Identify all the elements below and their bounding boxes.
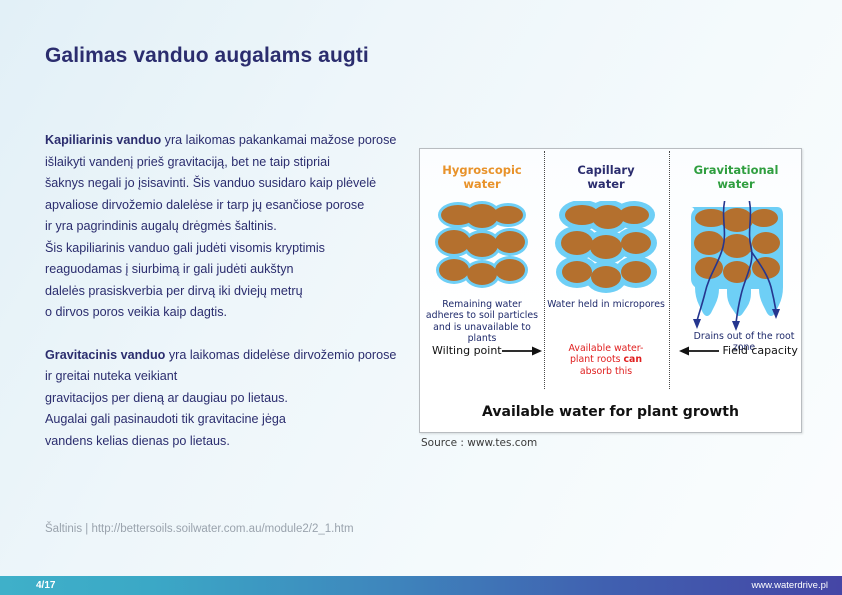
available-water-note-line2a: plant roots: [570, 354, 624, 365]
paragraph-capillary: Kapiliarinis vanduo yra laikomas pakanka…: [45, 130, 445, 324]
field-capacity-marker: Field capacity: [679, 344, 798, 357]
panel-hygroscopic-title-line1: Hygroscopic: [442, 163, 521, 177]
arrow-left-icon: [679, 346, 719, 356]
paragraph-capillary-line-7: dalelės prasiskverbia per dirvą iki dvie…: [45, 281, 445, 303]
gravitational-soil-aggregate-icon: [669, 201, 802, 336]
panel-hygroscopic: Hygroscopic water: [420, 149, 544, 397]
paragraph-capillary-line-3: apvaliose dirvožemio dalelėse ir tarp jų…: [45, 195, 445, 217]
panel-gravitational-title-line2: water: [717, 177, 754, 191]
panel-gravitational-title: Gravitational water: [669, 163, 802, 191]
paragraph-capillary-lead: Kapiliarinis vanduo: [45, 133, 161, 147]
panel-capillary-title: Capillary water: [544, 163, 668, 191]
footer-website-url[interactable]: www.waterdrive.pl: [751, 580, 828, 591]
panel-gravitational: Gravitational water: [669, 149, 802, 397]
footer-bar: 4/17 www.waterdrive.pl: [0, 576, 842, 595]
panel-hygroscopic-title-line2: water: [463, 177, 500, 191]
wilting-point-marker: Wilting point: [432, 344, 542, 357]
available-water-note-line3: absorb this: [580, 366, 632, 377]
available-water-note: Available water- plant roots can absorb …: [548, 343, 664, 377]
figure-caption: Available water for plant growth: [420, 404, 801, 420]
paragraph-gravitational-line-3: Augalai gali pasinaudoti tik gravitacine…: [45, 409, 445, 431]
paragraph-capillary-line-4: ir yra pagrindinis augalų drėgmės šaltin…: [45, 216, 445, 238]
paragraph-capillary-line-0: yra laikomas pakankamai mažose porose: [161, 133, 396, 147]
panel-capillary-description: Water held in micropores: [546, 299, 666, 310]
panel-capillary-title-line2: water: [587, 177, 624, 191]
panel-hygroscopic-title: Hygroscopic water: [420, 163, 544, 191]
page-indicator: 4/17: [36, 580, 55, 591]
capillary-soil-aggregate-icon: [544, 201, 668, 297]
soil-water-diagram: Hygroscopic water: [419, 148, 802, 433]
paragraph-gravitational: Gravitacinis vanduo yra laikomas didelės…: [45, 345, 445, 453]
paragraph-gravitational-line-1: ir greitai nuteka veikiant: [45, 366, 445, 388]
panel-capillary-title-line1: Capillary: [577, 163, 634, 177]
figure-source-text: Source : www.tes.com: [421, 437, 537, 449]
wilting-point-label: Wilting point: [432, 344, 502, 357]
paragraph-capillary-line-5: Šis kapiliarinis vanduo gali judėti viso…: [45, 238, 445, 260]
panel-capillary: Capillary water: [544, 149, 668, 397]
slide: Galimas vanduo augalams augti Kapiliarin…: [0, 0, 842, 595]
page-title: Galimas vanduo augalams augti: [45, 44, 369, 68]
paragraph-gravitational-line-4: vandens kelias dienas po lietaus.: [45, 431, 445, 453]
arrow-right-icon: [502, 346, 542, 356]
paragraph-gravitational-line-0: yra laikomas didelėse dirvožemio porose: [165, 348, 396, 362]
body-text-column: Kapiliarinis vanduo yra laikomas pakanka…: [45, 130, 445, 452]
diagram-canvas: Hygroscopic water: [420, 149, 801, 432]
paragraph-capillary-line-6: reaguodamas į siurbimą ir gali judėti au…: [45, 259, 445, 281]
paragraph-capillary-line-1: išlaikyti vandenį prieš gravitaciją, bet…: [45, 152, 445, 174]
available-water-note-emphasis: can: [624, 354, 643, 365]
available-water-note-line1: Available water-: [569, 343, 644, 354]
slide-source-note: Šaltinis | http://bettersoils.soilwater.…: [45, 523, 354, 535]
paragraph-capillary-line-2: šaknys negali jo įsisavinti. Šis vanduo …: [45, 173, 445, 195]
paragraph-gravitational-lead: Gravitacinis vanduo: [45, 348, 165, 362]
field-capacity-label: Field capacity: [723, 344, 798, 357]
panel-gravitational-title-line1: Gravitational: [694, 163, 779, 177]
hygroscopic-soil-aggregate-icon: [420, 201, 544, 297]
panel-hygroscopic-description: Remaining water adheres to soil particle…: [422, 299, 542, 345]
paragraph-capillary-line-8: o dirvos poros veikia kaip dagtis.: [45, 302, 445, 324]
paragraph-gravitational-line-2: gravitacijos per dieną ar daugiau po lie…: [45, 388, 445, 410]
